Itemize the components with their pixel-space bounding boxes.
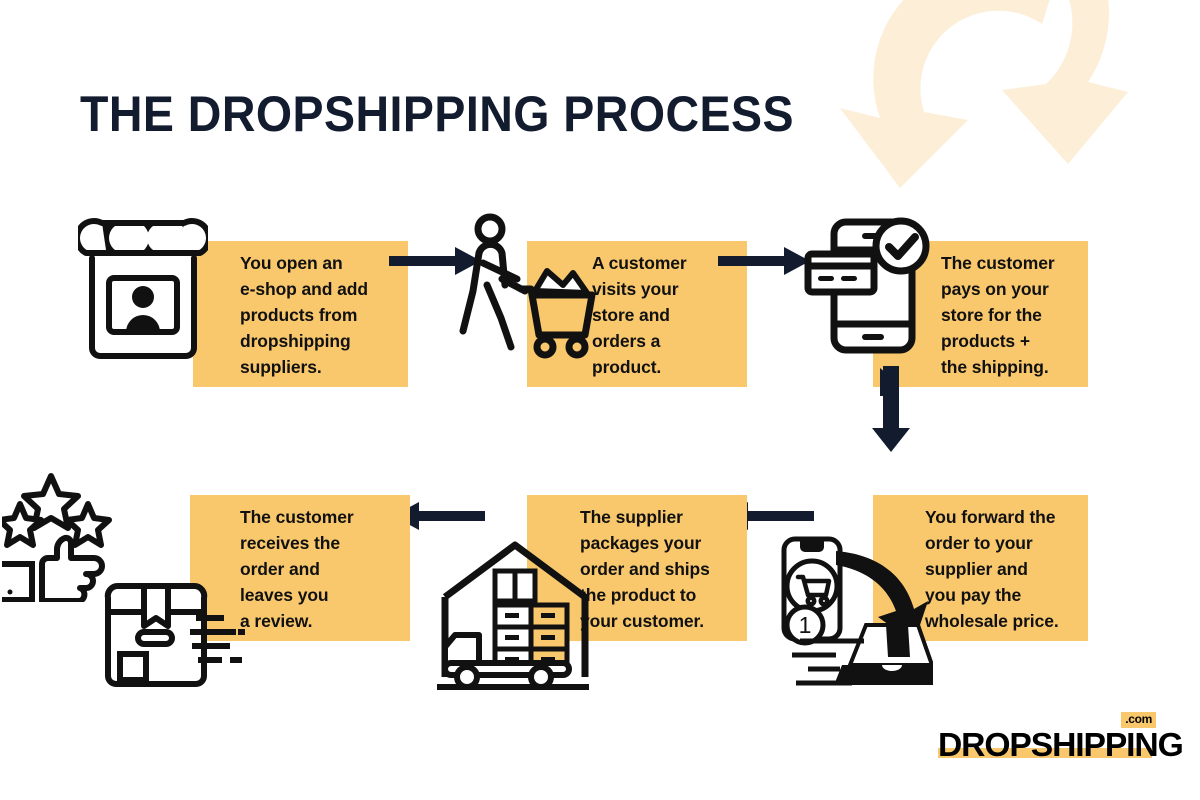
warehouse-truck-icon [437,535,597,690]
page-title: THE DROPSHIPPING PROCESS [80,85,794,143]
step-3-text: The customer pays on your store for the … [941,250,1101,380]
circular-refresh-arrow [828,0,1200,192]
storefront-icon [78,216,208,361]
step-5-text: The supplier packages your order and shi… [580,504,750,634]
logo-wordmark: DROPSHIPPING [938,726,1183,764]
phone-order-forward-laptop-icon: 1 [778,533,933,688]
cart-count-badge: 1 [799,612,812,638]
package-box-icon [100,572,245,690]
brand-logo[interactable]: DROPSHIPPING .com [938,712,1156,764]
step-4-text: You forward the order to your supplier a… [925,504,1100,634]
infographic-canvas: THE DROPSHIPPING PROCESS You open an e-s… [0,0,1200,800]
shopper-with-cart-icon [455,213,600,361]
arrow-step3-to-step4 [866,366,916,456]
step-6-text: The customer receives the order and leav… [240,504,405,634]
